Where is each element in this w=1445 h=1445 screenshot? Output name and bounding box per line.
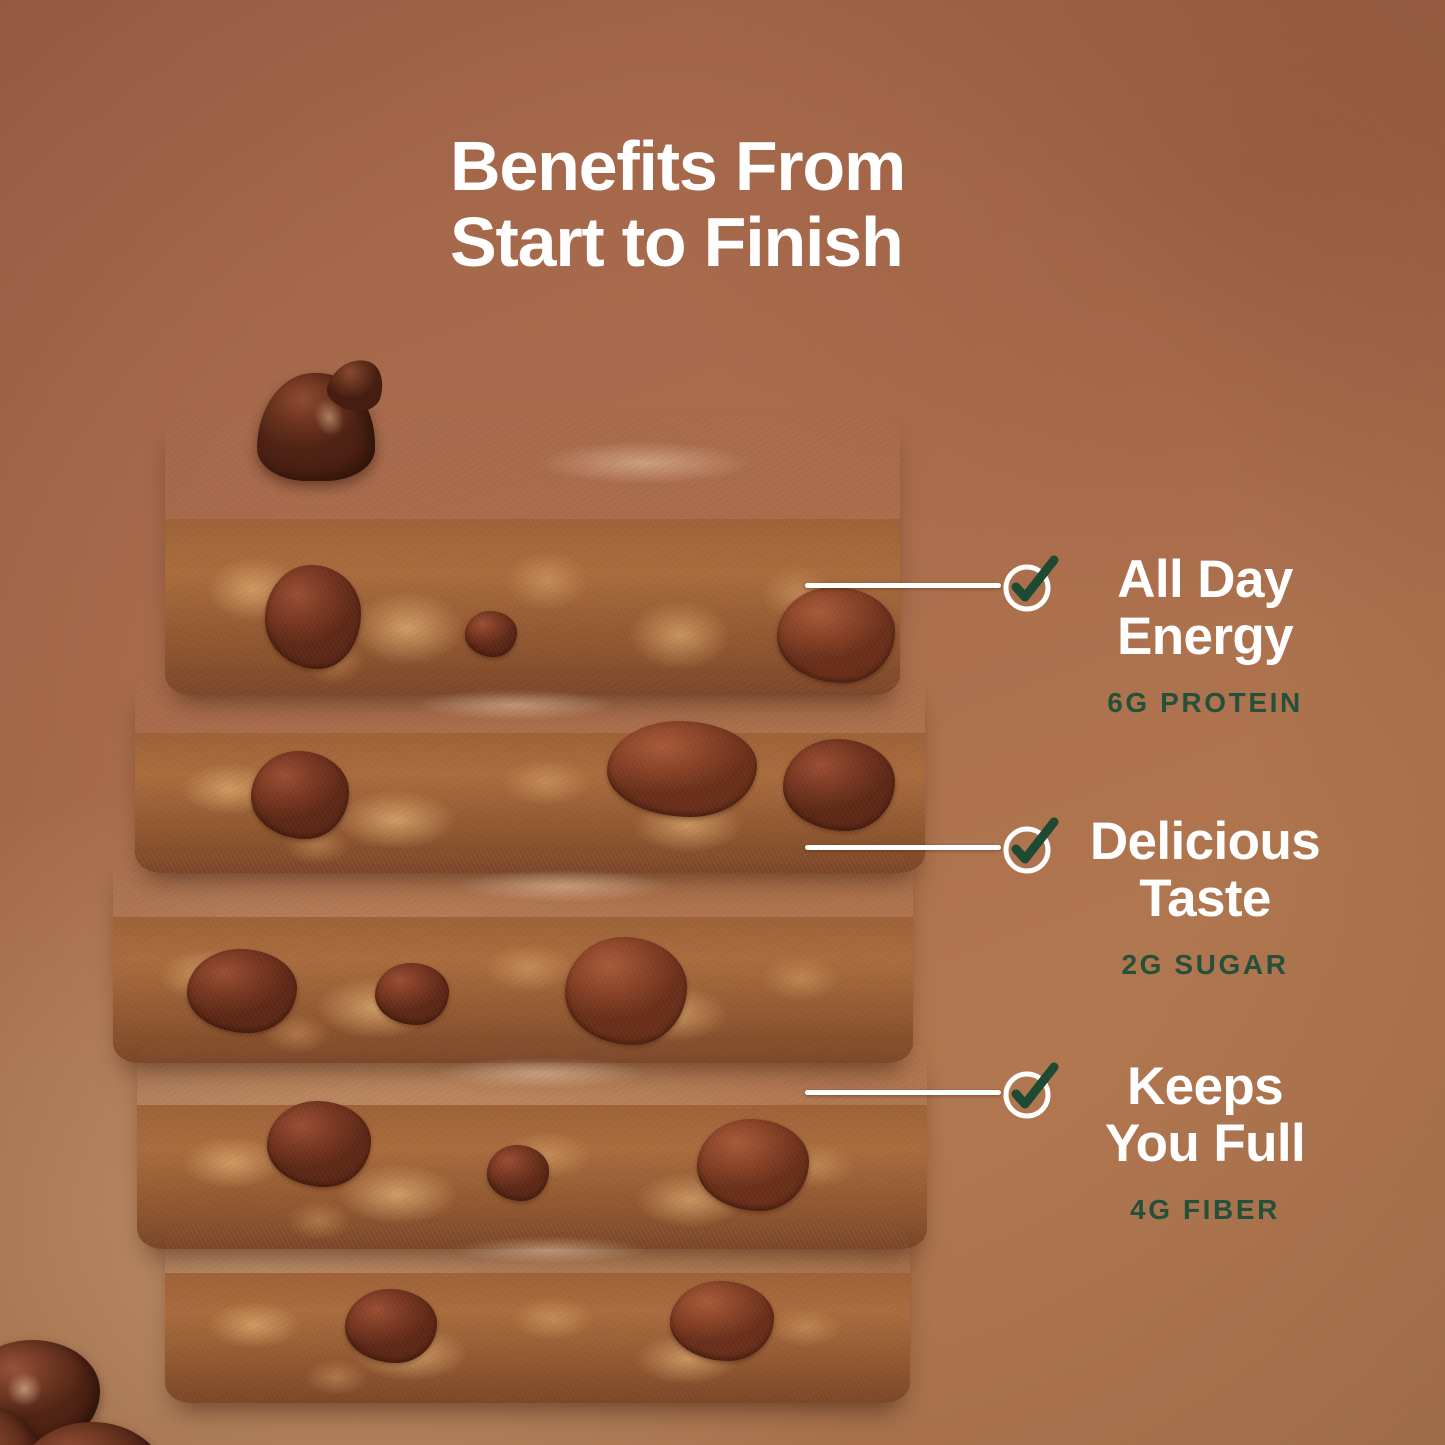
chocolate-chips-cluster xyxy=(0,1330,255,1445)
check-circle-icon xyxy=(1000,554,1062,616)
chocolate-chip xyxy=(17,1422,167,1445)
check-circle-icon xyxy=(1000,816,1062,878)
benefit-callout-taste: Delicious Taste 2G SUGAR xyxy=(1055,813,1355,981)
leader-line xyxy=(805,1090,1001,1095)
page-title: Benefits From Start to Finish xyxy=(450,128,1070,281)
benefit-callout-energy: All Day Energy 6G PROTEIN xyxy=(1055,551,1355,719)
benefit-title: Keeps You Full xyxy=(1055,1058,1355,1172)
product-bar xyxy=(113,851,913,1063)
product-bar xyxy=(137,1041,927,1249)
bar-stack xyxy=(95,355,975,1330)
leader-line xyxy=(805,845,1001,850)
product-bar xyxy=(165,1223,910,1403)
product-bar xyxy=(135,673,925,873)
marketing-image: Benefits From Start to Finish xyxy=(0,0,1445,1445)
leader-line xyxy=(805,583,1001,588)
benefit-title: All Day Energy xyxy=(1055,551,1355,665)
benefit-title: Delicious Taste xyxy=(1055,813,1355,927)
check-circle-icon xyxy=(1000,1061,1062,1123)
benefit-stat: 2G SUGAR xyxy=(1055,949,1355,981)
chocolate-chip-garnish xyxy=(257,359,389,481)
benefit-stat: 4G FIBER xyxy=(1055,1194,1355,1226)
benefit-stat: 6G PROTEIN xyxy=(1055,687,1355,719)
benefit-callout-fullness: Keeps You Full 4G FIBER xyxy=(1055,1058,1355,1226)
